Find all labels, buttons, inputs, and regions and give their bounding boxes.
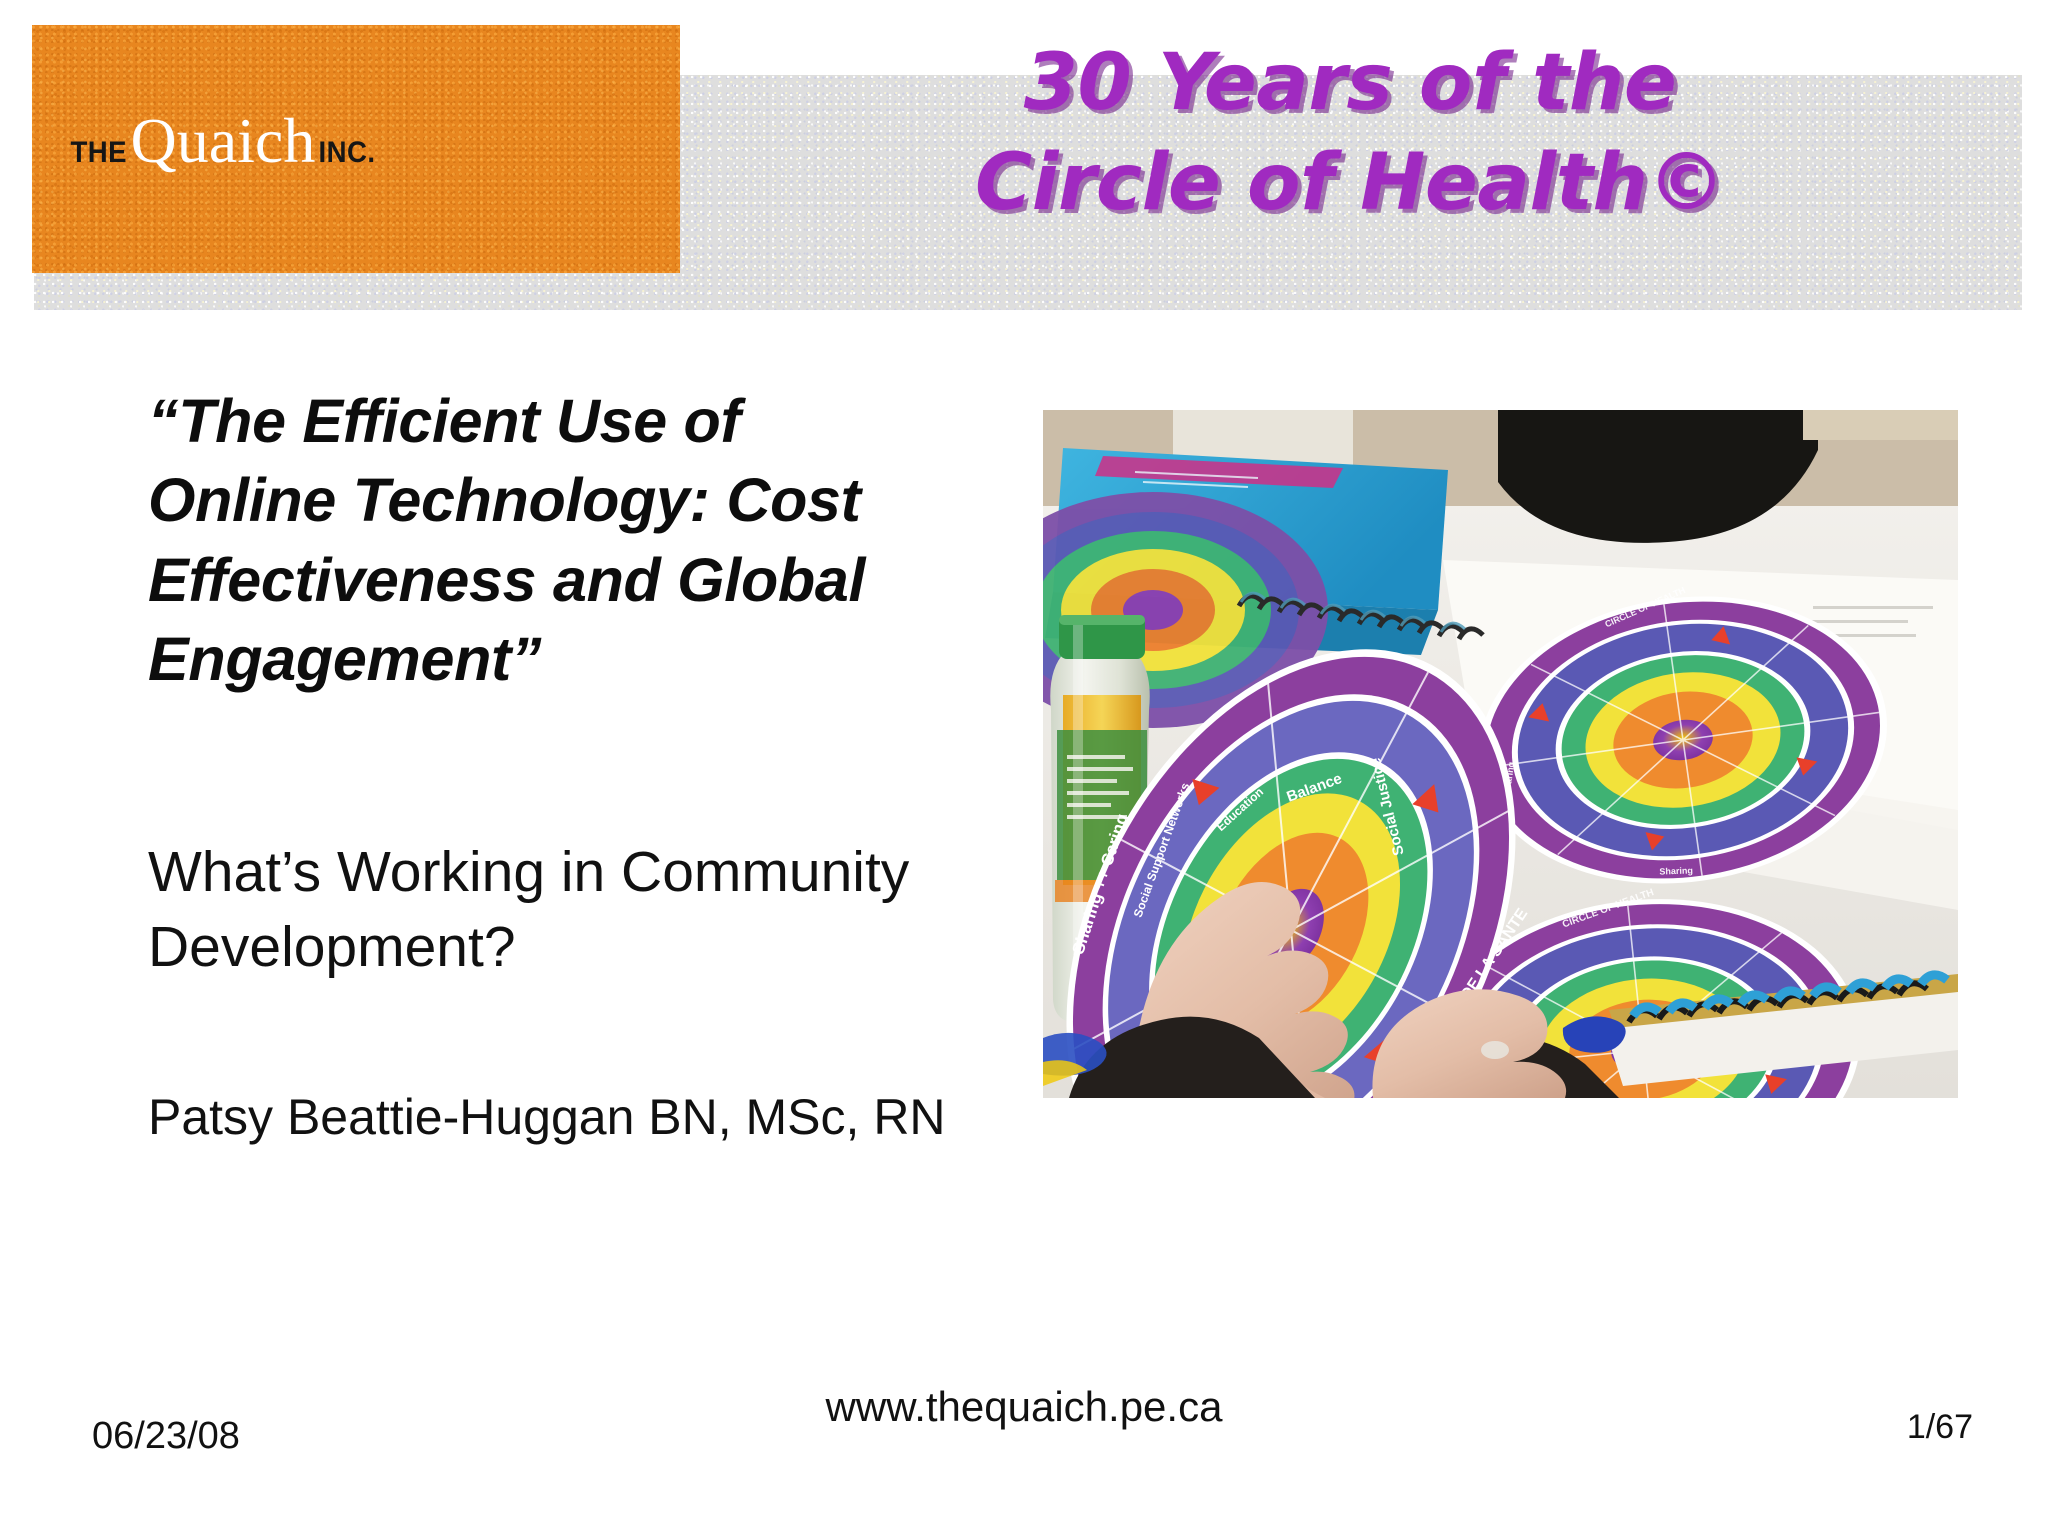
quote-line-2: Online Technology: Cost (148, 461, 1008, 540)
quaich-wordmark: THEQuaichINC. (68, 109, 378, 173)
quote-line-1: “The Efficient Use of (148, 382, 1008, 461)
svg-text:Sharing: Sharing (1659, 865, 1693, 876)
subtitle-line-1: What’s Working in Community (148, 835, 1048, 910)
deck-title-line-2: Circle of Health© (700, 134, 2000, 234)
subtitle-line-2: Development? (148, 910, 1048, 985)
author-credit: Patsy Beattie-Huggan BN, MSc, RN (148, 1087, 946, 1147)
presentation-subtitle: What’s Working in Community Development? (148, 835, 1048, 984)
logo-the-text: THE (70, 138, 127, 168)
presentation-title-quote: “The Efficient Use of Online Technology:… (148, 382, 1008, 699)
quaich-logo-block: THEQuaichINC. (32, 25, 680, 273)
photo-illustration: CIRCLE OF HEALTH Sharing Caring (1043, 410, 1958, 1098)
circle-of-health-photo: CIRCLE OF HEALTH Sharing Caring (1043, 410, 1958, 1098)
logo-inc-text: INC. (319, 138, 376, 168)
logo-quaich-text: Quaich (131, 109, 316, 173)
deck-title: 30 Years of the Circle of Health© (700, 34, 2000, 234)
footer-page-number: 1/67 (1907, 1408, 1973, 1447)
footer-website-url: www.thequaich.pe.ca (0, 1383, 2048, 1431)
deck-title-line-1: 30 Years of the (700, 34, 2000, 134)
quote-line-3: Effectiveness and Global (148, 541, 1008, 620)
quote-line-4: Engagement” (148, 620, 1008, 699)
